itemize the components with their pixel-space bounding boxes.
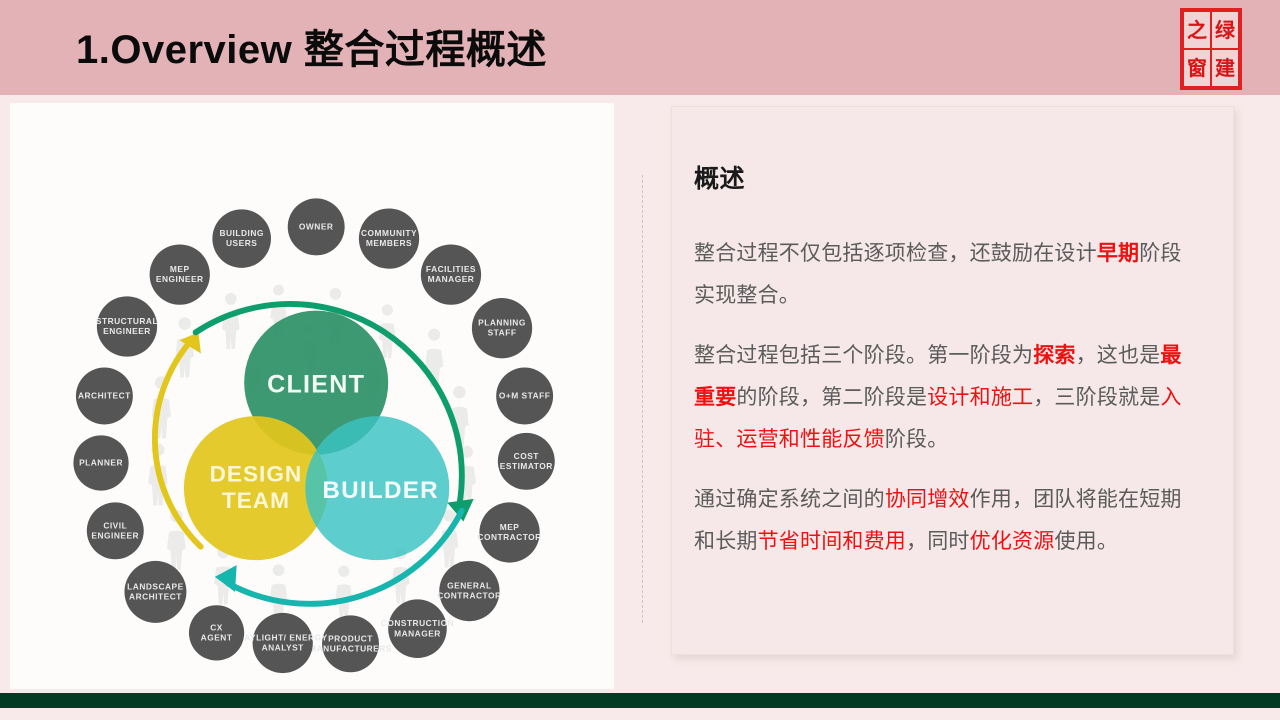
stakeholder-label: CIVIL (103, 520, 127, 530)
text-run: ，这也是 (1076, 344, 1161, 367)
text-run: 早期 (1097, 242, 1139, 265)
text-run: 设计和施工 (927, 386, 1033, 409)
stakeholder-label: ENGINEER (103, 326, 151, 336)
text-run: ，同时 (906, 530, 970, 553)
stakeholder-label: FACILITIES (426, 264, 476, 274)
stakeholder-label: CX (210, 622, 223, 632)
stakeholder-label: BUILDING (219, 228, 263, 238)
text-run: 整合过程不仅包括逐项检查，还鼓励在设计 (694, 242, 1097, 265)
stakeholder-label: GENERAL (447, 581, 491, 591)
stakeholder-label: COMMUNITY (361, 228, 417, 238)
text-run: 使用。 (1054, 530, 1118, 553)
stakeholder-label: CONSTRUCTION (381, 618, 454, 628)
text-run: 整合过程包括三个阶段。第一阶段为 (694, 344, 1033, 367)
stakeholder-label: COST (514, 451, 540, 461)
brand-logo: 之 绿 窗 建 (1180, 8, 1242, 90)
overview-text-panel: 概述 整合过程不仅包括逐项检查，还鼓励在设计早期阶段实现整合。 整合过程包括三个… (671, 106, 1234, 655)
stakeholder-label: MEMBERS (366, 238, 412, 248)
overview-paragraph-2: 整合过程包括三个阶段。第一阶段为探索，这也是最重要的阶段，第二阶段是设计和施工，… (694, 335, 1193, 461)
stakeholder-diagram-image: CLIENT DESIGN TEAM BUILDER BUILDINGUSERS… (10, 103, 614, 689)
text-run: 探索 (1033, 344, 1075, 367)
stakeholder-label: CONTRACTOR (477, 532, 541, 542)
logo-cell-lv: 绿 (1211, 11, 1239, 49)
slide-header: 1.Overview 整合过程概述 之 绿 窗 建 (0, 0, 1280, 95)
stakeholder-label: STRUCTURAL (96, 316, 158, 326)
text-run: ，三阶段就是 (1033, 386, 1160, 409)
stakeholder-label: PLANNER (79, 457, 123, 467)
stakeholder-diagram-svg: CLIENT DESIGN TEAM BUILDER BUILDINGUSERS… (10, 103, 614, 689)
venn-label-client: CLIENT (267, 371, 365, 399)
overview-paragraph-1: 整合过程不仅包括逐项检查，还鼓励在设计早期阶段实现整合。 (694, 233, 1193, 317)
stakeholder-label: DAYLIGHT/ ENERGY (238, 632, 328, 642)
stakeholder-label: OWNER (299, 221, 334, 231)
stakeholder-label: MANAGER (428, 274, 475, 284)
venn-label-builder: BUILDER (322, 477, 439, 504)
stakeholder-label: USERS (226, 238, 257, 248)
stakeholder-label: MEP (170, 264, 190, 274)
panel-heading: 概述 (694, 159, 1193, 195)
text-run: 阶段。 (885, 428, 949, 451)
logo-cell-jian: 建 (1211, 49, 1239, 87)
stakeholder-label: PRODUCT (328, 633, 373, 643)
stakeholder-label: ARCHITECT (129, 591, 182, 601)
text-run: 的阶段，第二阶段是 (736, 386, 927, 409)
stakeholder-label: O+M STAFF (499, 391, 551, 401)
stakeholder-label: ANALYST (262, 642, 305, 652)
footer-bar (0, 693, 1280, 708)
stakeholder-label: MEP (500, 522, 520, 532)
page-title: 1.Overview 整合过程概述 (76, 17, 547, 75)
stakeholder-label: MANAGER (394, 628, 441, 638)
stakeholder-label: MANUFACTURERS (309, 643, 392, 653)
logo-cell-zhi: 之 (1183, 11, 1211, 49)
stakeholder-label: ENGINEER (156, 274, 204, 284)
venn-label-team: TEAM (222, 488, 290, 513)
text-run: 节省时间和费用 (758, 530, 906, 553)
vertical-dashed-divider (642, 175, 643, 623)
venn-label-design: DESIGN (210, 461, 303, 486)
stakeholder-label: ENGINEER (91, 530, 139, 540)
overview-paragraph-3: 通过确定系统之间的协同增效作用，团队将能在短期和长期节省时间和费用，同时优化资源… (694, 479, 1193, 563)
stakeholder-label: STAFF (488, 328, 517, 338)
stakeholder-label: LANDSCAPE (127, 581, 184, 591)
stakeholder-label: CONTRACTOR (437, 591, 501, 601)
stakeholder-label: ESTIMATOR (500, 461, 553, 471)
text-run: 通过确定系统之间的 (694, 488, 885, 511)
logo-cell-chuang: 窗 (1183, 49, 1211, 87)
stakeholder-label: ARCHITECT (78, 391, 131, 401)
stakeholder-label: AGENT (201, 632, 233, 642)
stakeholder-label: PLANNING (478, 318, 526, 328)
text-run: 优化资源 (970, 530, 1055, 553)
text-run: 协同增效 (885, 488, 970, 511)
